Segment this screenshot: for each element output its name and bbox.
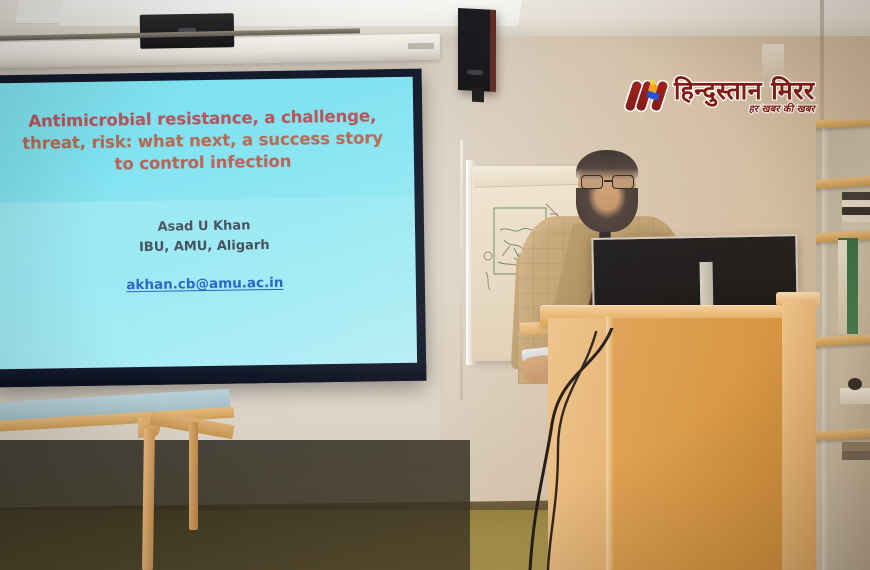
foreground-table-leg — [189, 422, 198, 530]
projection-screen-surface: Antimicrobial resistance, a challenge, t… — [0, 77, 417, 370]
slide-email-link[interactable]: akhan.cb@amu.ac.in — [3, 273, 407, 295]
book — [842, 222, 870, 230]
logo-accent-yellow — [650, 80, 655, 85]
bookshelf — [816, 120, 870, 570]
glasses-lens-left — [581, 175, 603, 189]
loudspeaker-icon — [458, 8, 496, 92]
podium-pillar — [782, 300, 816, 570]
book — [842, 215, 870, 222]
projection-screen: Antimicrobial resistance, a challenge, t… — [0, 69, 426, 388]
loudspeaker-bracket — [472, 88, 484, 103]
slide-author-block: Asad U Khan IBU, AMU, Aligarh — [2, 214, 407, 261]
podium-corner-edge — [606, 316, 613, 570]
photo-scene: Antimicrobial resistance, a challenge, t… — [0, 0, 870, 570]
book — [848, 378, 862, 390]
book — [842, 200, 870, 207]
podium-body-left-face — [548, 318, 610, 570]
logo-mark-icon — [628, 79, 668, 113]
book — [840, 388, 870, 404]
housing-endcap — [408, 43, 434, 49]
bookshelf-white-binder — [838, 240, 847, 334]
book — [842, 192, 870, 200]
glasses-icon — [580, 175, 636, 190]
book — [842, 442, 870, 451]
ceiling-panel-secondary — [58, 0, 522, 26]
podium-monitor — [591, 234, 798, 316]
watermark-brand-name: हिन्दुस्तान मिरर — [674, 78, 815, 103]
wall-seam — [460, 140, 463, 400]
watermark-logo: हिन्दुस्तान मिरर हर खबर की खबर — [628, 66, 848, 126]
floor-shadow-area — [0, 440, 470, 570]
book — [842, 207, 870, 215]
watermark-text: हिन्दुस्तान मिरर हर खबर की खबर — [674, 78, 815, 115]
book — [842, 451, 870, 460]
foreground-table-leg — [142, 428, 155, 570]
ceiling — [0, 0, 870, 36]
slide-title: Antimicrobial resistance, a challenge, t… — [0, 105, 405, 177]
watermark-tagline: हर खबर की खबर — [749, 105, 815, 115]
glasses-lens-right — [612, 175, 634, 189]
